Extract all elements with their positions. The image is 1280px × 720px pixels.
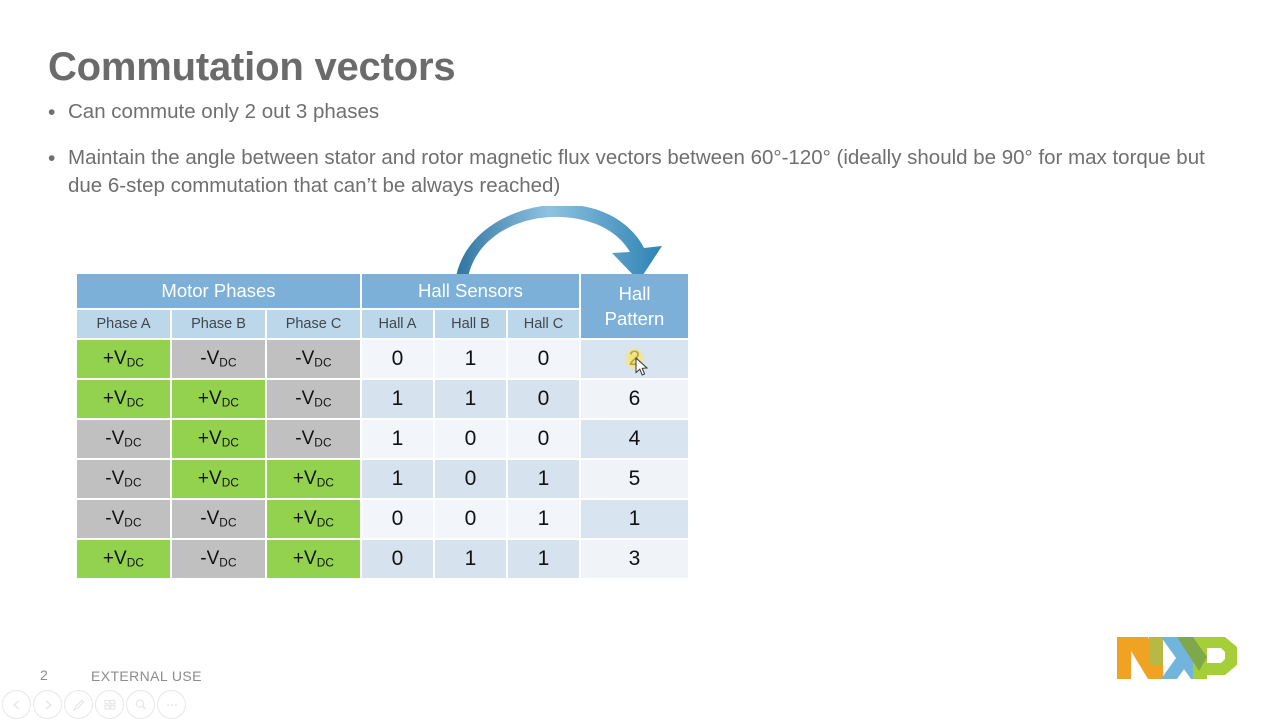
cell-hall-a: 1 bbox=[362, 460, 433, 498]
cell-hall-b: 0 bbox=[435, 420, 506, 458]
table-row: -VDC+VDC+VDC1015 bbox=[77, 460, 688, 498]
cell-phase-a: -VDC bbox=[77, 460, 170, 498]
cell-hall-b: 0 bbox=[435, 500, 506, 538]
cell-phase-b: -VDC bbox=[172, 340, 265, 378]
page-title: Commutation vectors bbox=[48, 45, 455, 90]
cell-phase-c: +VDC bbox=[267, 540, 360, 578]
cell-phase-a: +VDC bbox=[77, 540, 170, 578]
table: Motor Phases Hall Sensors Hall Pattern P… bbox=[75, 272, 690, 580]
group-header-motor-phases: Motor Phases bbox=[77, 274, 360, 308]
cell-phase-c: -VDC bbox=[267, 380, 360, 418]
subheader-hall-a: Hall A bbox=[362, 310, 433, 338]
cell-phase-c: +VDC bbox=[267, 500, 360, 538]
group-header-hall-pattern: Hall Pattern bbox=[581, 274, 688, 338]
cell-phase-b: -VDC bbox=[172, 500, 265, 538]
commutation-vectors-table: Motor Phases Hall Sensors Hall Pattern P… bbox=[75, 272, 690, 580]
bullet-item-2: • Maintain the angle between stator and … bbox=[44, 144, 1234, 200]
magnifier-icon bbox=[133, 697, 149, 713]
hall-pattern-label-line1: Hall bbox=[581, 281, 688, 306]
cell-hall-pattern: 4 bbox=[581, 420, 688, 458]
bullet-marker-icon: • bbox=[44, 144, 68, 173]
table-row: -VDC+VDC-VDC1004 bbox=[77, 420, 688, 458]
cell-hall-c: 0 bbox=[508, 420, 579, 458]
presentation-slide: Commutation vectors • Can commute only 2… bbox=[0, 0, 1280, 720]
cell-hall-a: 0 bbox=[362, 500, 433, 538]
table-header: Motor Phases Hall Sensors Hall Pattern P… bbox=[77, 274, 688, 338]
more-options-button[interactable] bbox=[157, 690, 186, 719]
cell-phase-c: +VDC bbox=[267, 460, 360, 498]
ellipsis-icon bbox=[164, 697, 180, 713]
cell-hall-c: 1 bbox=[508, 500, 579, 538]
subheader-hall-c: Hall C bbox=[508, 310, 579, 338]
subheader-phase-b: Phase B bbox=[172, 310, 265, 338]
all-slides-button[interactable] bbox=[95, 690, 124, 719]
pen-tool-button[interactable] bbox=[64, 690, 93, 719]
cell-hall-a: 1 bbox=[362, 420, 433, 458]
bullet-text-2: Maintain the angle between stator and ro… bbox=[68, 144, 1234, 200]
cell-hall-pattern: 2 bbox=[581, 340, 688, 378]
cell-hall-b: 1 bbox=[435, 380, 506, 418]
cell-phase-a: +VDC bbox=[77, 380, 170, 418]
cell-hall-b: 1 bbox=[435, 540, 506, 578]
table-row: +VDC-VDC+VDC0113 bbox=[77, 540, 688, 578]
zoom-button[interactable] bbox=[126, 690, 155, 719]
cell-hall-a: 1 bbox=[362, 380, 433, 418]
table-body: +VDC-VDC-VDC0102+VDC+VDC-VDC1106-VDC+VDC… bbox=[77, 340, 688, 578]
chevron-right-icon bbox=[41, 698, 55, 712]
table-row: +VDC+VDC-VDC1106 bbox=[77, 380, 688, 418]
cell-phase-b: +VDC bbox=[172, 420, 265, 458]
cell-phase-a: -VDC bbox=[77, 500, 170, 538]
bullet-item-1: • Can commute only 2 out 3 phases bbox=[44, 98, 1224, 127]
slideshow-toolbar[interactable] bbox=[2, 690, 186, 719]
subheader-hall-b: Hall B bbox=[435, 310, 506, 338]
slide-number: 2 bbox=[40, 667, 48, 683]
bullet-marker-icon: • bbox=[44, 98, 68, 127]
cell-phase-b: +VDC bbox=[172, 380, 265, 418]
next-slide-button[interactable] bbox=[33, 690, 62, 719]
previous-slide-button[interactable] bbox=[2, 690, 31, 719]
cell-hall-pattern: 5 bbox=[581, 460, 688, 498]
cell-hall-b: 0 bbox=[435, 460, 506, 498]
bullet-text-1: Can commute only 2 out 3 phases bbox=[68, 98, 379, 126]
hall-pattern-label-line2: Pattern bbox=[581, 306, 688, 331]
pen-icon bbox=[71, 697, 87, 713]
cell-phase-b: -VDC bbox=[172, 540, 265, 578]
cell-phase-a: -VDC bbox=[77, 420, 170, 458]
subheader-phase-a: Phase A bbox=[77, 310, 170, 338]
cell-hall-pattern: 3 bbox=[581, 540, 688, 578]
footer-label: EXTERNAL USE bbox=[91, 668, 202, 684]
cell-hall-c: 0 bbox=[508, 380, 579, 418]
cell-hall-a: 0 bbox=[362, 340, 433, 378]
cell-phase-c: -VDC bbox=[267, 340, 360, 378]
nxp-logo bbox=[1115, 635, 1253, 681]
cell-hall-a: 0 bbox=[362, 540, 433, 578]
table-row: +VDC-VDC-VDC0102 bbox=[77, 340, 688, 378]
highlighted-value: 2 bbox=[624, 347, 646, 371]
group-header-hall-sensors: Hall Sensors bbox=[362, 274, 579, 308]
cell-hall-c: 0 bbox=[508, 340, 579, 378]
table-group-header-row: Motor Phases Hall Sensors Hall Pattern bbox=[77, 274, 688, 308]
cell-hall-b: 1 bbox=[435, 340, 506, 378]
subheader-phase-c: Phase C bbox=[267, 310, 360, 338]
cell-hall-c: 1 bbox=[508, 460, 579, 498]
table-row: -VDC-VDC+VDC0011 bbox=[77, 500, 688, 538]
cell-hall-pattern: 6 bbox=[581, 380, 688, 418]
cell-phase-b: +VDC bbox=[172, 460, 265, 498]
cell-hall-c: 1 bbox=[508, 540, 579, 578]
chevron-left-icon bbox=[10, 698, 24, 712]
cell-phase-c: -VDC bbox=[267, 420, 360, 458]
cell-hall-pattern: 1 bbox=[581, 500, 688, 538]
grid-slides-icon bbox=[102, 697, 118, 713]
cell-phase-a: +VDC bbox=[77, 340, 170, 378]
